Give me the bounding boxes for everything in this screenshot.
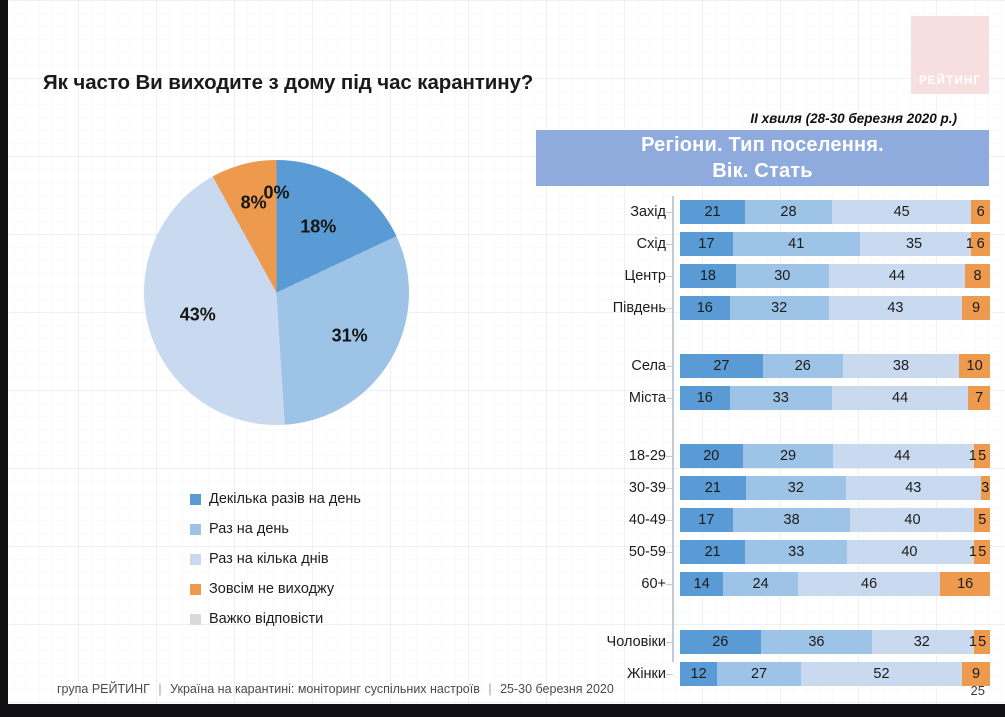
bar-segment-value: 35	[906, 236, 922, 252]
axis-tick	[666, 276, 673, 277]
bar-segment: 27	[680, 354, 763, 378]
axis-tick	[666, 520, 673, 521]
axis-tick	[666, 212, 673, 213]
pie-chart: 18%31%43%8%0%	[124, 150, 424, 435]
bar-segment-value: 21	[704, 544, 720, 560]
legend-swatch-icon	[190, 524, 201, 535]
bar-segment-value: 6	[977, 236, 985, 252]
wave-label: II хвиля (28-30 березня 2020 р.)	[750, 111, 957, 126]
logo-text: РЕЙТИНГ	[919, 75, 981, 94]
bar-segment-value: 44	[894, 448, 910, 464]
bar-row-label: 30-39	[560, 480, 672, 496]
bar-segment-value: 1	[966, 236, 974, 252]
pie-slice-label: 31%	[332, 325, 368, 346]
bar-segment-value: 9	[972, 300, 980, 316]
bar-segment-value: 26	[795, 358, 811, 374]
bar-segment: 8	[965, 264, 990, 288]
bar-segment: 10	[959, 354, 990, 378]
bar-segment: 52	[801, 662, 962, 686]
bar-segment: 3	[981, 476, 990, 500]
pie-legend: Декілька разів на деньРаз на деньРаз на …	[190, 484, 361, 634]
legend-item-label: Декілька разів на день	[209, 491, 361, 507]
slide: РЕЙТИНГ Як часто Ви виходите з дому під …	[0, 0, 1005, 717]
bar-track: 1227529	[680, 662, 990, 686]
bar-segment-value: 16	[957, 576, 973, 592]
bar-segment-value: 27	[713, 358, 729, 374]
bar-segment-value: 21	[704, 204, 720, 220]
pie-slice-label: 43%	[180, 305, 216, 326]
bar-segment-value: 1	[969, 544, 977, 560]
bar-segment-value: 32	[788, 480, 804, 496]
bar-segment: 21	[680, 540, 745, 564]
legend-item-label: Важко відповісти	[209, 611, 323, 627]
bar-segment-value: 18	[700, 268, 716, 284]
bar-segment: 35	[860, 232, 969, 256]
bar-segment: 17	[680, 508, 733, 532]
axis-tick	[666, 584, 673, 585]
section-banner: Регіони. Тип поселення. Вік. Стать	[536, 130, 989, 186]
bar-track: 2132433	[680, 476, 990, 500]
bar-segment: 26	[763, 354, 843, 378]
bar-row: Села27263810	[560, 354, 990, 378]
left-edge-band	[0, 0, 8, 717]
bar-segment: 43	[829, 296, 962, 320]
bar-segment: 43	[846, 476, 981, 500]
bar-row: 18-2920294415	[560, 444, 990, 468]
bar-row: Жінки1227529	[560, 662, 990, 686]
bar-row: Захід2128456	[560, 200, 990, 224]
axis-tick	[666, 488, 673, 489]
banner-line-1: Регіони. Тип поселення.	[641, 132, 884, 158]
bar-track: 1633447	[680, 386, 990, 410]
bar-segment: 21	[680, 476, 746, 500]
bar-segment-value: 5	[978, 544, 986, 560]
bar-segment-value: 10	[967, 358, 983, 374]
footer-separator-2: |	[483, 682, 496, 696]
bar-row: Схід17413516	[560, 232, 990, 256]
bar-segment: 16	[680, 386, 730, 410]
bar-row-label: Південь	[560, 300, 672, 316]
axis-tick	[666, 552, 673, 553]
bar-segment: 44	[829, 264, 965, 288]
bar-segment-value: 45	[894, 204, 910, 220]
bar-row: Центр1830448	[560, 264, 990, 288]
bar-segment-value: 33	[773, 390, 789, 406]
bar-segment: 16	[940, 572, 990, 596]
bar-track: 14244616	[680, 572, 990, 596]
bar-row-label: Чоловіки	[560, 634, 672, 650]
legend-item-0[interactable]: Декілька разів на день	[190, 484, 361, 514]
page-number: 25	[971, 683, 985, 698]
legend-item-label: Раз на кілька днів	[209, 551, 329, 567]
axis-tick	[666, 642, 673, 643]
banner-line-2: Вік. Стать	[712, 158, 813, 184]
bar-segment-value: 40	[904, 512, 920, 528]
bar-row-label: Жінки	[560, 666, 672, 682]
bar-segment-value: 17	[698, 236, 714, 252]
stacked-bar-chart: Захід2128456Схід17413516Центр1830448Півд…	[560, 196, 1000, 666]
bar-segment-value: 9	[972, 666, 980, 682]
bar-segment-value: 6	[977, 204, 985, 220]
bar-segment: 17	[680, 232, 733, 256]
axis-tick	[666, 398, 673, 399]
legend-swatch-icon	[190, 494, 201, 505]
footer-separator-1: |	[153, 682, 166, 696]
footer-dates: 25-30 березня 2020	[500, 682, 614, 696]
bar-track: 20294415	[680, 444, 990, 468]
bar-segment: 44	[832, 386, 968, 410]
footer: група РЕЙТИНГ | Україна на карантині: мо…	[57, 682, 614, 696]
bar-segment-value: 20	[703, 448, 719, 464]
axis-tick	[666, 244, 673, 245]
bar-row-label: 40-49	[560, 512, 672, 528]
bar-segment-value: 5	[978, 634, 986, 650]
bar-row: Чоловіки26363215	[560, 630, 990, 654]
bar-segment: 7	[968, 386, 990, 410]
axis-tick	[666, 674, 673, 675]
bar-track: 1738405	[680, 508, 990, 532]
bar-track: 1830448	[680, 264, 990, 288]
bar-row: Південь1632439	[560, 296, 990, 320]
bar-segment: 33	[730, 386, 832, 410]
bar-row-label: 50-59	[560, 544, 672, 560]
bar-segment-value: 27	[751, 666, 767, 682]
bar-segment: 18	[680, 264, 736, 288]
bar-row-label: Міста	[560, 390, 672, 406]
axis-tick	[666, 366, 673, 367]
bar-segment-value: 38	[893, 358, 909, 374]
bar-segment: 21	[680, 200, 745, 224]
bar-row-label: 18-29	[560, 448, 672, 464]
legend-swatch-icon	[190, 554, 201, 565]
bar-segment: 28	[745, 200, 832, 224]
bar-segment: 12	[680, 662, 717, 686]
bar-segment: 38	[733, 508, 851, 532]
bar-segment-value: 29	[780, 448, 796, 464]
bar-row-label: 60+	[560, 576, 672, 592]
bar-track: 26363215	[680, 630, 990, 654]
legend-item-2[interactable]: Раз на кілька днів	[190, 544, 361, 574]
bar-row: 50-5921334015	[560, 540, 990, 564]
bar-segment: 32	[872, 630, 971, 654]
bar-row-label: Центр	[560, 268, 672, 284]
bar-segment-value: 3	[981, 480, 989, 496]
legend-item-4[interactable]: Важко відповісти	[190, 604, 361, 634]
bar-track: 17413516	[680, 232, 990, 256]
bar-segment-value: 12	[691, 666, 707, 682]
bar-segment: 27	[717, 662, 801, 686]
bar-segment: 6	[971, 232, 990, 256]
legend-item-1[interactable]: Раз на день	[190, 514, 361, 544]
bar-segment: 24	[723, 572, 797, 596]
bar-segment-value: 16	[697, 300, 713, 316]
legend-item-label: Зовсім не виходжу	[209, 581, 334, 597]
bar-segment: 14	[680, 572, 723, 596]
bar-segment: 32	[730, 296, 829, 320]
bar-segment-value: 26	[712, 634, 728, 650]
footer-study: Україна на карантині: моніторинг суспіль…	[170, 682, 480, 696]
bar-segment: 9	[962, 296, 990, 320]
bar-row-label: Схід	[560, 236, 672, 252]
bar-segment-value: 8	[974, 268, 982, 284]
legend-item-label: Раз на день	[209, 521, 289, 537]
legend-swatch-icon	[190, 614, 201, 625]
bar-segment-value: 46	[861, 576, 877, 592]
bar-segment-value: 16	[697, 390, 713, 406]
bar-segment-value: 44	[889, 268, 905, 284]
bar-segment-value: 21	[705, 480, 721, 496]
bar-segment: 40	[847, 540, 971, 564]
bar-segment-value: 24	[753, 576, 769, 592]
pie-slice-label: 0%	[263, 182, 289, 203]
bar-segment-value: 32	[914, 634, 930, 650]
bar-segment-value: 17	[698, 512, 714, 528]
bar-segment-value: 52	[873, 666, 889, 682]
bottom-edge-band	[0, 704, 1005, 717]
bar-segment: 46	[798, 572, 941, 596]
legend-swatch-icon	[190, 584, 201, 595]
bar-row: Міста1633447	[560, 386, 990, 410]
legend-item-3[interactable]: Зовсім не виходжу	[190, 574, 361, 604]
bar-track: 2128456	[680, 200, 990, 224]
bar-segment: 20	[680, 444, 743, 468]
bar-segment-value: 7	[975, 390, 983, 406]
bar-segment-value: 5	[978, 448, 986, 464]
bar-track: 27263810	[680, 354, 990, 378]
bar-segment-value: 40	[901, 544, 917, 560]
bar-segment: 36	[761, 630, 873, 654]
bar-segment-value: 36	[808, 634, 824, 650]
bar-segment: 40	[850, 508, 974, 532]
bar-row: 40-491738405	[560, 508, 990, 532]
bar-segment-value: 38	[784, 512, 800, 528]
bar-segment: 45	[832, 200, 972, 224]
bar-row: 60+14244616	[560, 572, 990, 596]
bar-track: 21334015	[680, 540, 990, 564]
bar-row-label: Захід	[560, 204, 672, 220]
bar-segment: 30	[736, 264, 829, 288]
pie-slice-label: 18%	[300, 216, 336, 237]
bar-segment-value: 43	[887, 300, 903, 316]
bar-segment: 16	[680, 296, 730, 320]
bar-segment-value: 5	[978, 512, 986, 528]
page-title: Як часто Ви виходите з дому під час кара…	[43, 71, 533, 95]
bar-segment-value: 33	[788, 544, 804, 560]
bar-segment-value: 41	[788, 236, 804, 252]
bar-track: 1632439	[680, 296, 990, 320]
bar-segment: 32	[746, 476, 846, 500]
bar-segment: 33	[745, 540, 847, 564]
bar-segment-value: 14	[694, 576, 710, 592]
bar-segment-value: 43	[905, 480, 921, 496]
bar-segment: 29	[743, 444, 834, 468]
bar-segment: 41	[733, 232, 860, 256]
bar-segment-value: 1	[969, 634, 977, 650]
bar-row-label: Села	[560, 358, 672, 374]
bar-segment-value: 30	[774, 268, 790, 284]
bar-segment-value: 1	[969, 448, 977, 464]
bar-row: 30-392132433	[560, 476, 990, 500]
footer-org: група РЕЙТИНГ	[57, 682, 150, 696]
rating-logo: РЕЙТИНГ	[911, 16, 989, 94]
axis-tick	[666, 308, 673, 309]
bar-segment: 38	[843, 354, 960, 378]
bar-segment: 44	[833, 444, 971, 468]
axis-tick	[666, 456, 673, 457]
bar-segment-value: 32	[771, 300, 787, 316]
bar-segment-value: 44	[892, 390, 908, 406]
bar-segment-value: 28	[780, 204, 796, 220]
bar-segment: 26	[680, 630, 761, 654]
bar-segment: 6	[971, 200, 990, 224]
bar-segment: 5	[974, 508, 990, 532]
